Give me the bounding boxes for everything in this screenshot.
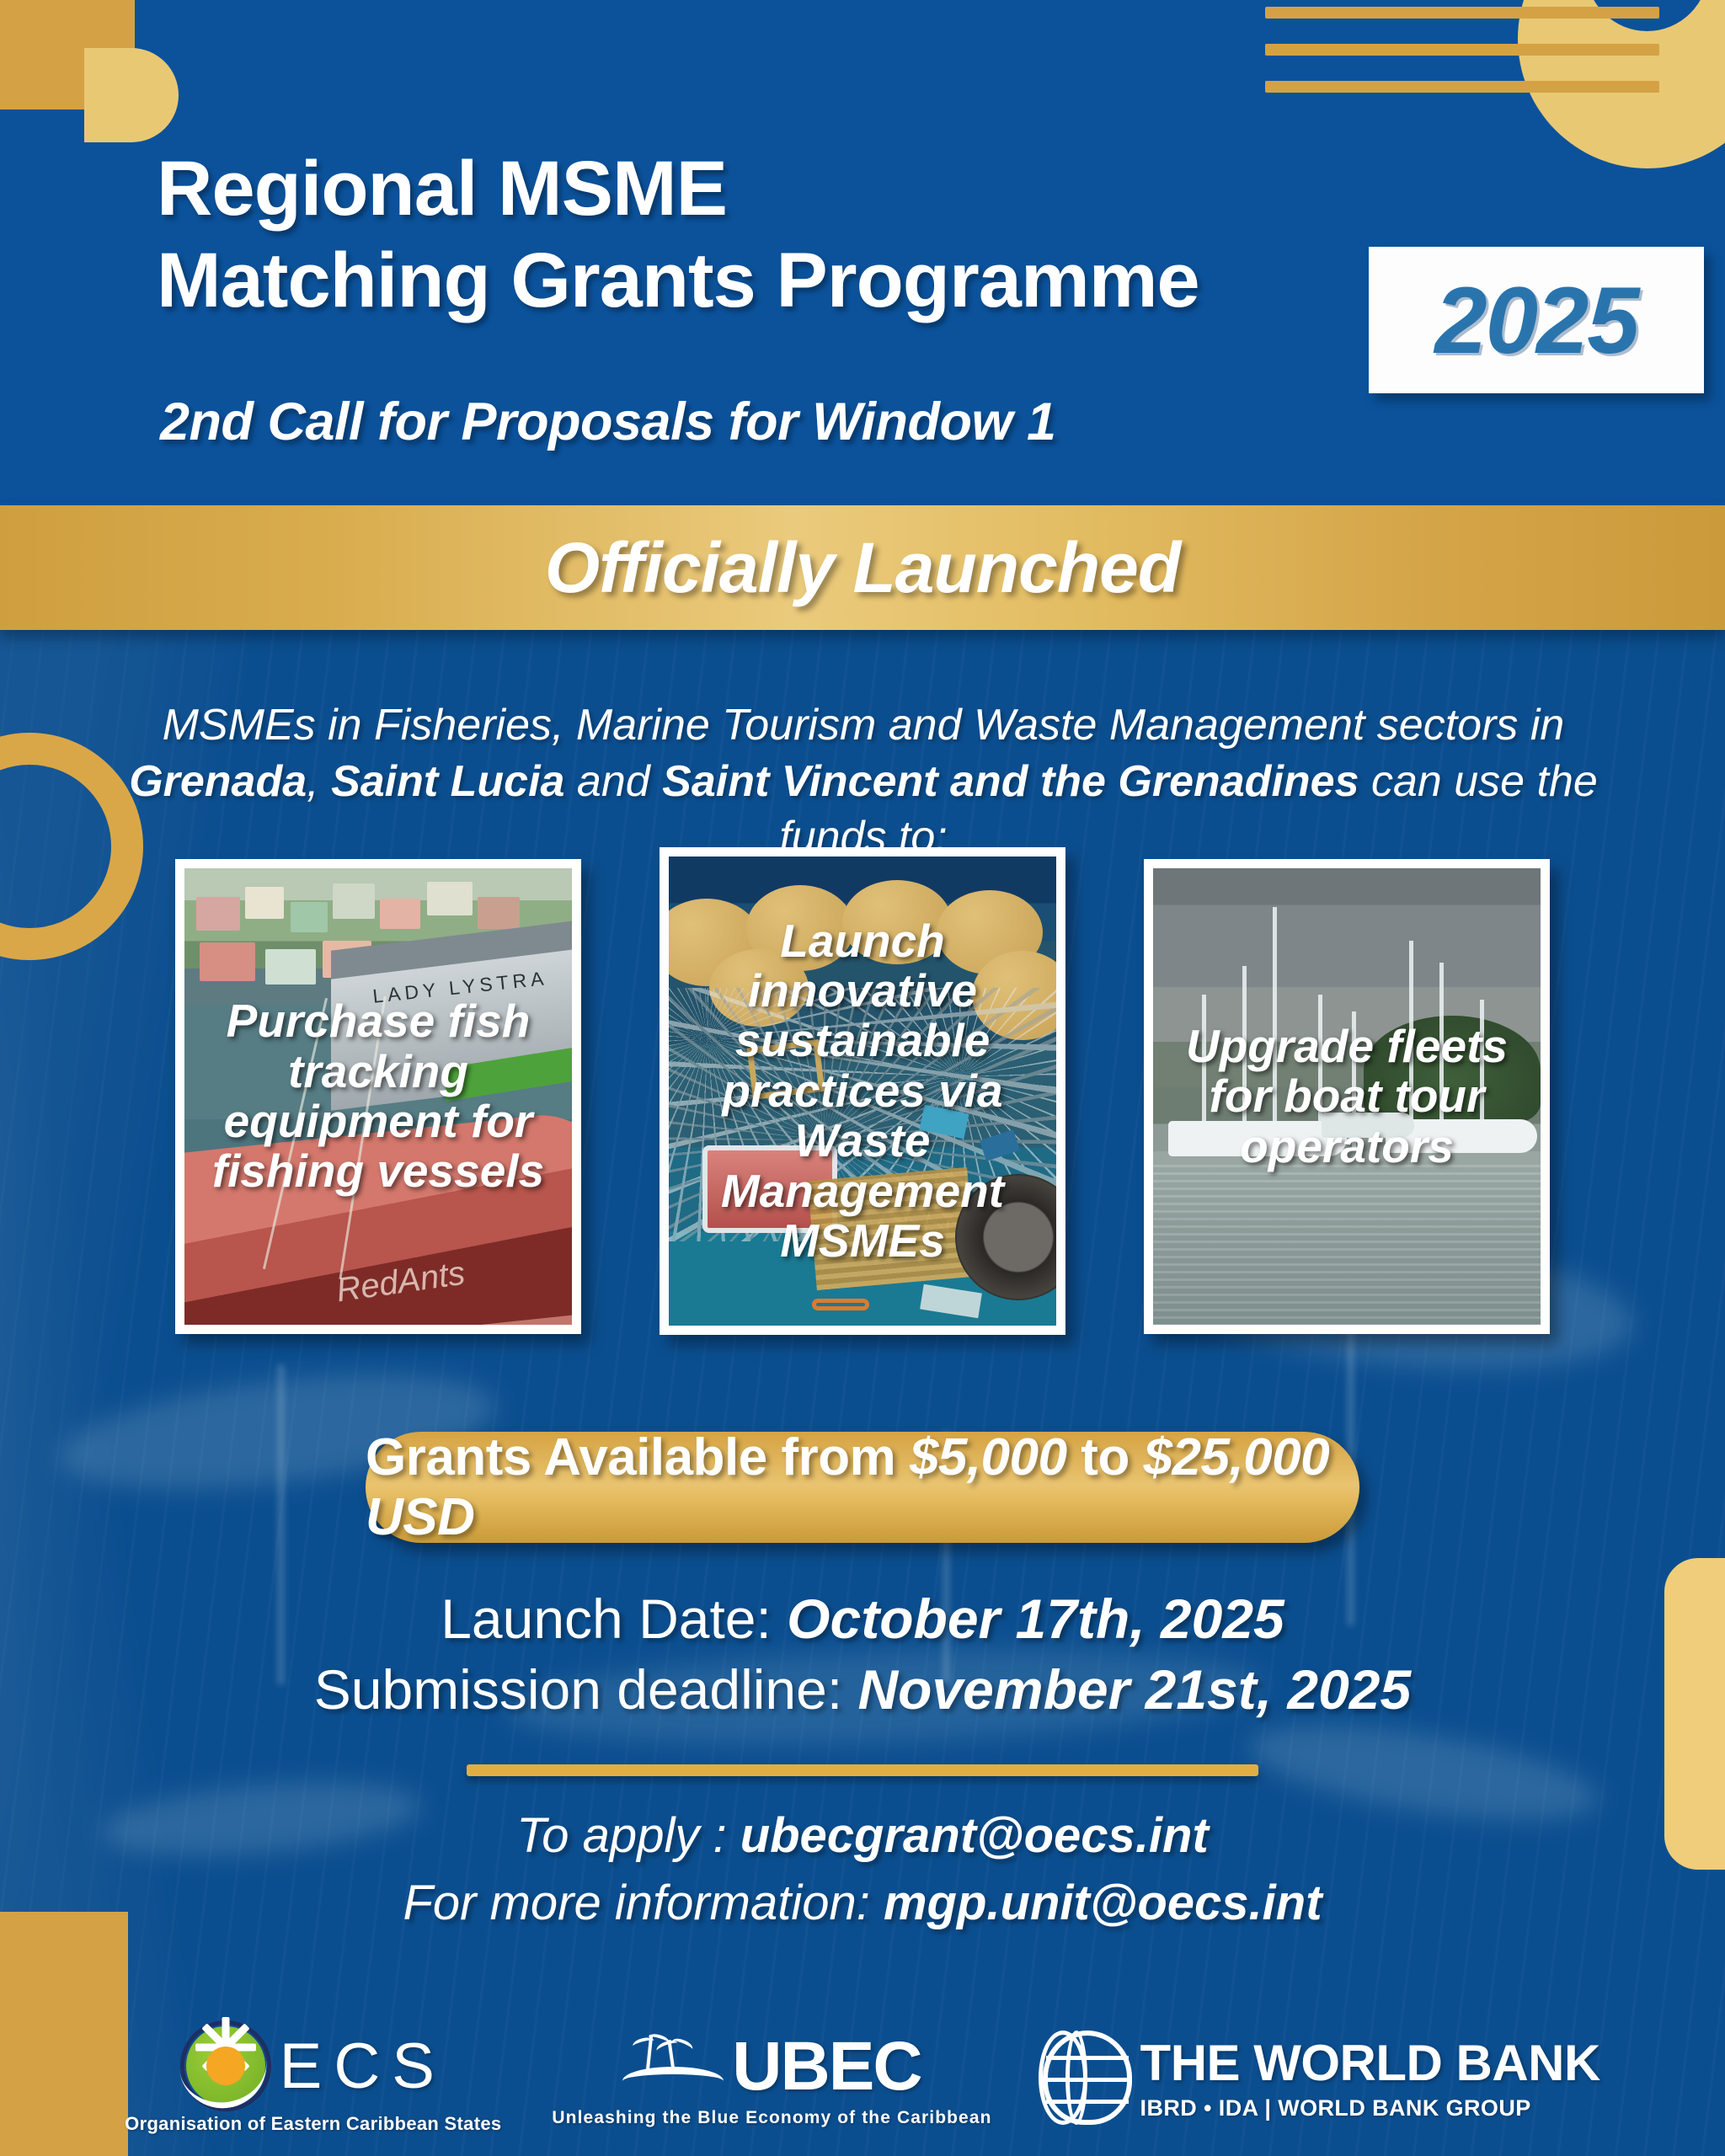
page-title-line1: Regional MSME bbox=[157, 143, 1319, 235]
oecs-tagline: Organisation of Eastern Caribbean States bbox=[125, 2113, 501, 2135]
world-bank-logo: THE WORLD BANK IBRD • IDA | WORLD BANK G… bbox=[1043, 2031, 1600, 2125]
intro-sep1: , bbox=[307, 757, 331, 806]
card-label-boat-tours: Upgrade fleets for boat tour operators bbox=[1153, 868, 1541, 1325]
deadline-row: Submission deadline: November 21st, 2025 bbox=[0, 1654, 1725, 1725]
intro-part1: MSMEs in Fisheries, Marine Tourism and W… bbox=[163, 701, 1565, 750]
intro-country-svg: Saint Vincent and the Grenadines bbox=[662, 757, 1359, 806]
info-contact-row: For more information: mgp.unit@oecs.int bbox=[0, 1870, 1725, 1937]
intro-country-saint-lucia: Saint Lucia bbox=[331, 757, 564, 806]
ubec-tagline: Unleashing the Blue Economy of the Carib… bbox=[552, 2108, 991, 2128]
intro-country-grenada: Grenada bbox=[129, 757, 307, 806]
card-photo-waste-management: Launch innovative sustainable practices … bbox=[669, 857, 1056, 1326]
oecs-emblem-icon bbox=[180, 2020, 271, 2111]
stripe-shape-top-right bbox=[1265, 44, 1659, 56]
card-photo-fish-tracking: LADY LYSTRA RedAnts Purchase fish tracki… bbox=[184, 868, 572, 1325]
stripe-shape-top-right bbox=[1265, 7, 1659, 19]
poster-root: Regional MSME Matching Grants Programme … bbox=[0, 0, 1725, 2156]
world-bank-wordmark: THE WORLD BANK bbox=[1140, 2034, 1600, 2092]
use-of-funds-card: Upgrade fleets for boat tour operators bbox=[1144, 859, 1550, 1334]
launch-date-row: Launch Date: October 17th, 2025 bbox=[0, 1583, 1725, 1654]
apply-label: To apply : bbox=[516, 1808, 740, 1863]
intro-sep2: and bbox=[564, 757, 662, 806]
grants-amount-badge: Grants Available from $5,000 to $25,000 … bbox=[366, 1432, 1359, 1543]
contact-block: To apply : ubecgrant@oecs.int For more i… bbox=[0, 1802, 1725, 1937]
deadline-value: November 21st, 2025 bbox=[858, 1658, 1412, 1721]
apply-email[interactable]: ubecgrant@oecs.int bbox=[740, 1808, 1209, 1863]
card-label-waste-management: Launch innovative sustainable practices … bbox=[669, 857, 1056, 1326]
deadline-label: Submission deadline: bbox=[314, 1658, 858, 1721]
grants-middle: to bbox=[1067, 1428, 1144, 1486]
apply-contact-row: To apply : ubecgrant@oecs.int bbox=[0, 1802, 1725, 1870]
year-badge: 2025 bbox=[1369, 247, 1704, 393]
globe-icon bbox=[1043, 2031, 1132, 2125]
card-photo-boat-tours: Upgrade fleets for boat tour operators bbox=[1153, 868, 1541, 1325]
intro-paragraph: MSMEs in Fisheries, Marine Tourism and W… bbox=[118, 697, 1609, 866]
page-title-line2: Matching Grants Programme bbox=[157, 235, 1319, 327]
partner-logo-bar: ECS Organisation of Eastern Caribbean St… bbox=[0, 2015, 1725, 2141]
status-banner: Officially Launched bbox=[0, 505, 1725, 630]
launch-date-label: Launch Date: bbox=[441, 1588, 787, 1650]
ubec-palm-wave-icon bbox=[622, 2031, 724, 2102]
stripe-shape-top-right bbox=[1265, 81, 1659, 93]
use-of-funds-card: Launch innovative sustainable practices … bbox=[660, 847, 1065, 1335]
info-email[interactable]: mgp.unit@oecs.int bbox=[884, 1876, 1322, 1930]
page-title: Regional MSME Matching Grants Programme bbox=[157, 143, 1319, 326]
info-label: For more information: bbox=[403, 1876, 884, 1930]
launch-date-value: October 17th, 2025 bbox=[787, 1588, 1284, 1650]
use-of-funds-card: LADY LYSTRA RedAnts Purchase fish tracki… bbox=[175, 859, 581, 1334]
grants-prefix: Grants Available from bbox=[366, 1428, 910, 1486]
ubec-logo: UBEC Unleashing the Blue Economy of the … bbox=[552, 2027, 991, 2128]
world-bank-tagline: IBRD • IDA | WORLD BANK GROUP bbox=[1140, 2095, 1531, 2121]
oecs-logo: ECS Organisation of Eastern Caribbean St… bbox=[125, 2020, 501, 2135]
oecs-wordmark: ECS bbox=[280, 2030, 446, 2103]
card-label-fish-tracking: Purchase fish tracking equipment for fis… bbox=[184, 868, 572, 1325]
use-of-funds-card-list: LADY LYSTRA RedAnts Purchase fish tracki… bbox=[0, 859, 1725, 1356]
grants-amount-text: Grants Available from $5,000 to $25,000 … bbox=[366, 1428, 1359, 1547]
semicircle-shape-top-left bbox=[84, 48, 179, 142]
year-badge-label: 2025 bbox=[1434, 266, 1637, 375]
gold-divider bbox=[467, 1764, 1258, 1776]
status-banner-label: Officially Launched bbox=[545, 527, 1180, 609]
grants-min: $5,000 bbox=[910, 1428, 1067, 1486]
ubec-wordmark: UBEC bbox=[732, 2027, 921, 2106]
key-dates: Launch Date: October 17th, 2025 Submissi… bbox=[0, 1583, 1725, 1726]
page-subtitle: 2nd Call for Proposals for Window 1 bbox=[160, 392, 1339, 452]
